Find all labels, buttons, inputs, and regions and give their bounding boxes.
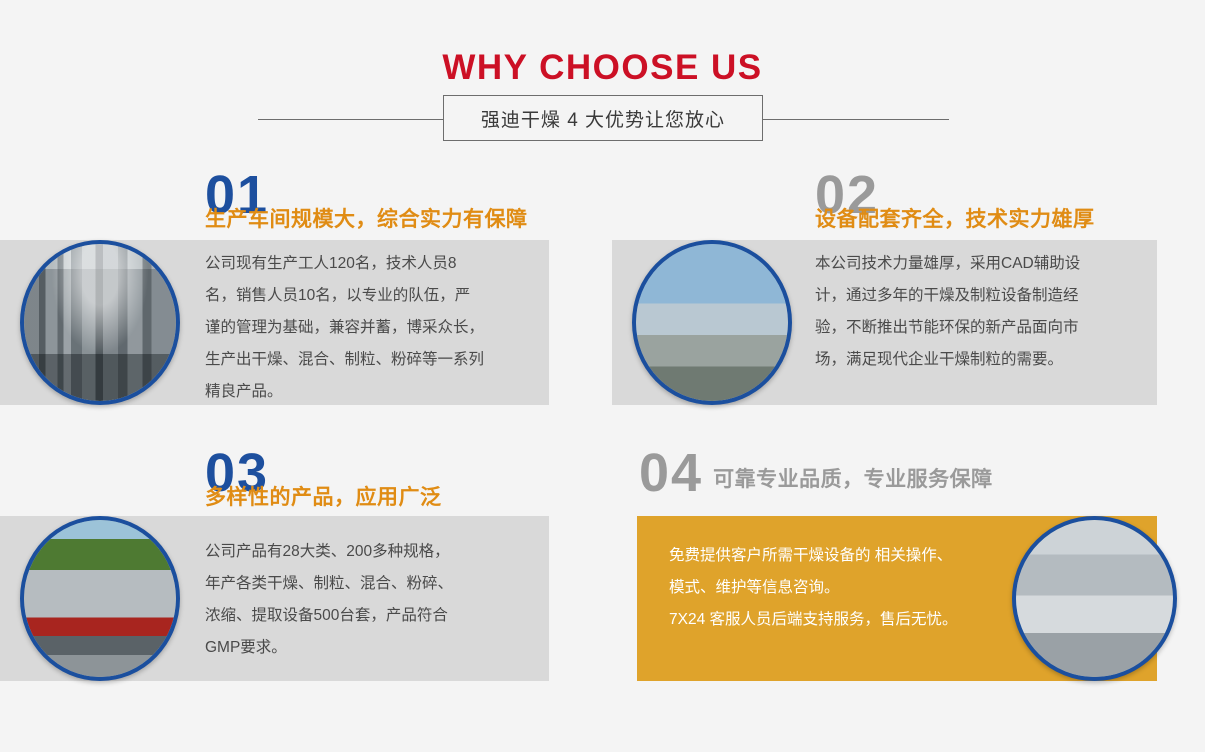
card-03-photo (20, 516, 180, 681)
card-02-title: 设备配套齐全，技术实力雄厚 (815, 208, 1095, 232)
workshop-spray-dryer-photo (24, 244, 176, 401)
card-01-body: 公司现有生产工人120名，技术人员8 名，销售人员10名，以专业的队伍，严 谨的… (205, 248, 535, 408)
rotary-dryer-truck-photo (24, 520, 176, 677)
card-04-body: 免费提供客户所需干燥设备的 相关操作、 模式、维护等信息咨询。 7X24 客服人… (669, 540, 1009, 636)
card-02-photo (632, 240, 792, 405)
card-01-title: 生产车间规模大，综合实力有保障 (205, 208, 528, 232)
card-04-head: 04 可靠专业品质，专业服务保障 (639, 448, 993, 498)
feature-card-04: 04 可靠专业品质，专业服务保障 免费提供客户所需干燥设备的 相关操作、 模式、… (637, 448, 1205, 688)
section-header: WHY CHOOSE US 强迪干燥 4 大优势让您放心 (0, 0, 1205, 160)
factory-fluidbed-machine-photo (1016, 520, 1173, 677)
card-04-number: 04 (639, 448, 703, 498)
card-03-head: 03 多样性的产品，应用广泛 (205, 448, 442, 510)
feature-card-01: 01 生产车间规模大，综合实力有保障 公司现有生产工人120名，技术人员8 名，… (0, 170, 560, 410)
card-02-head: 02 设备配套齐全，技术实力雄厚 (815, 170, 1095, 232)
feature-card-03: 03 多样性的产品，应用广泛 公司产品有28大类、200多种规格， 年产各类干燥… (0, 448, 560, 688)
outdoor-drying-tower-photo (636, 244, 788, 401)
header-subtitle-box: 强迪干燥 4 大优势让您放心 (443, 95, 763, 141)
card-01-photo (20, 240, 180, 405)
card-04-photo (1012, 516, 1177, 681)
page-title: WHY CHOOSE US (0, 48, 1205, 88)
feature-card-02: 02 设备配套齐全，技术实力雄厚 本公司技术力量雄厚，采用CAD辅助设 计，通过… (612, 170, 1205, 410)
header-subtitle: 强迪干燥 4 大优势让您放心 (481, 105, 725, 132)
header-rule-right (763, 119, 949, 120)
card-03-title: 多样性的产品，应用广泛 (205, 486, 442, 510)
card-03-body: 公司产品有28大类、200多种规格， 年产各类干燥、制粒、混合、粉碎、 浓缩、提… (205, 536, 535, 664)
card-01-head: 01 生产车间规模大，综合实力有保障 (205, 170, 528, 232)
header-rule-left (258, 119, 444, 120)
card-04-title: 可靠专业品质，专业服务保障 (713, 468, 993, 492)
card-02-body: 本公司技术力量雄厚，采用CAD辅助设 计，通过多年的干燥及制粒设备制造经 验，不… (815, 248, 1160, 376)
